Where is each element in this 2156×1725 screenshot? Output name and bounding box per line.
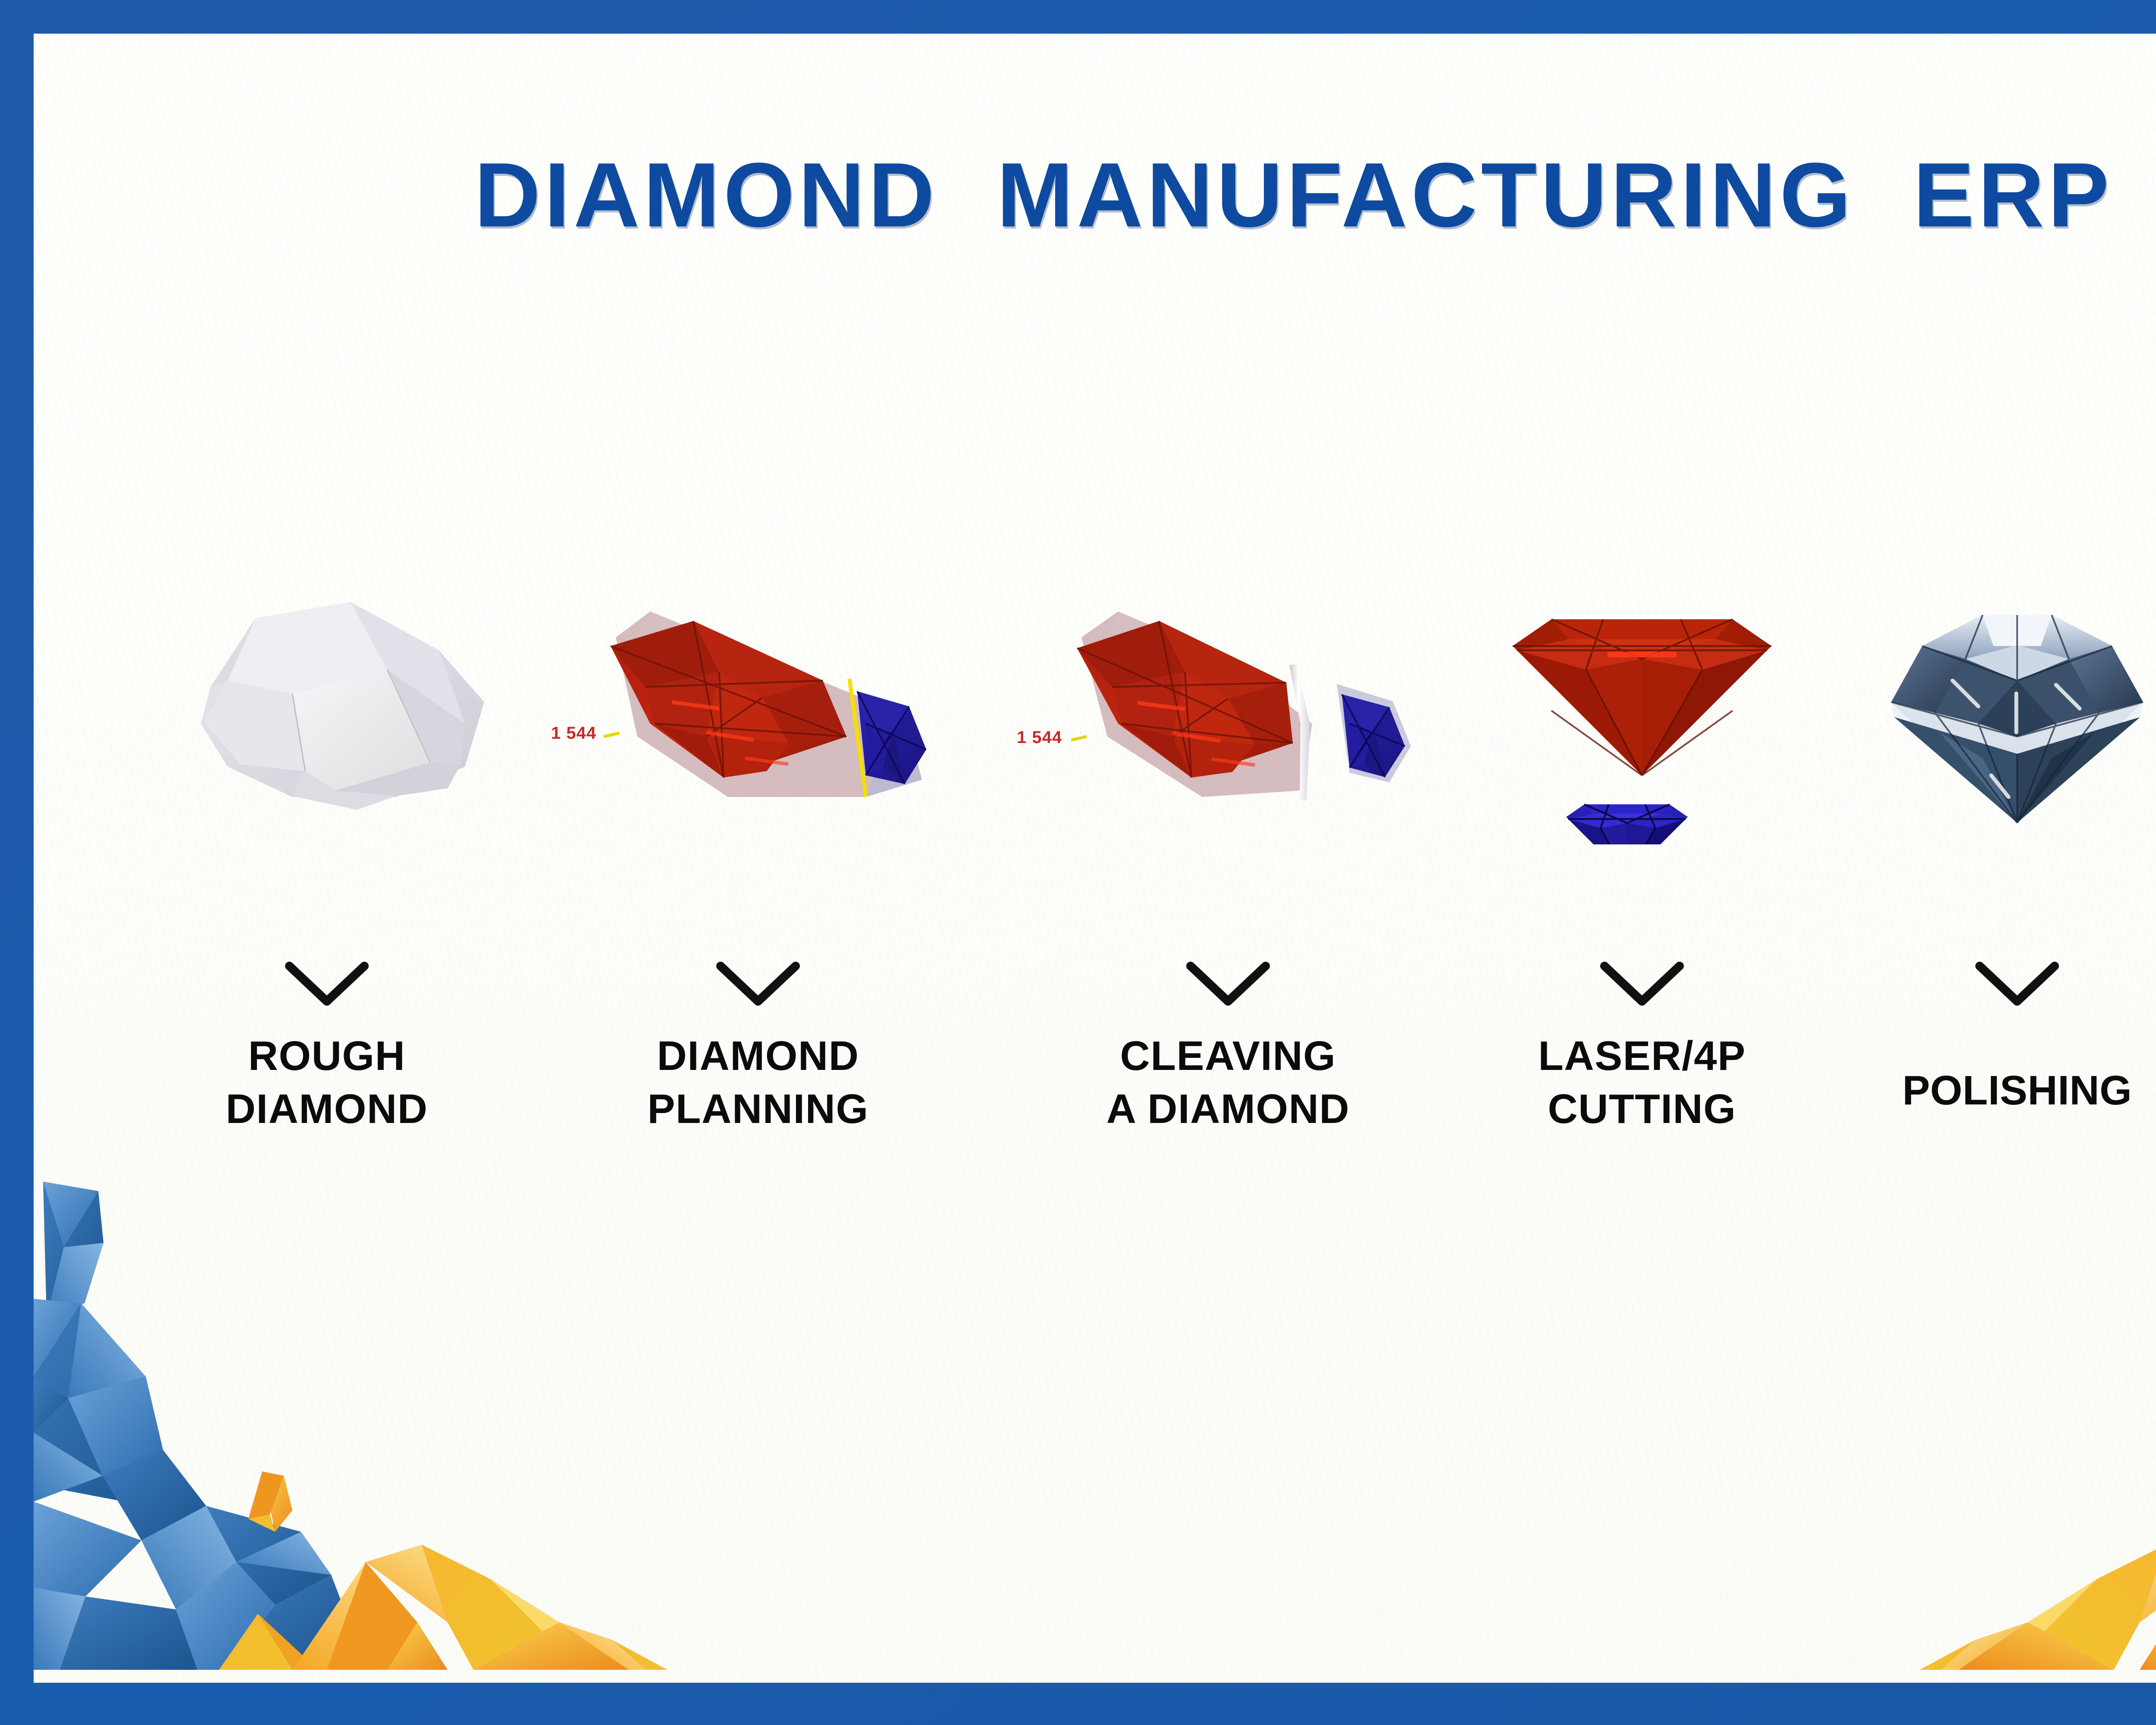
stage-label-rough-diamond: ROUGH DIAMOND: [111, 1030, 542, 1136]
corner-decoration-right: [1846, 1174, 2156, 1683]
stage-cleaving-a-diamond[interactable]: 1 544 CLEAVING A DIAMOND: [1012, 594, 1444, 870]
stage-rough-diamond[interactable]: ROUGH DIAMOND: [111, 594, 542, 870]
dark-brilliant-illustration: [1802, 594, 2156, 870]
planning-weight-annotation: 1 544: [551, 724, 596, 743]
chevron-down-icon: [282, 957, 372, 1012]
cleaved-stone-illustration: 1 544: [1012, 594, 1444, 870]
cleaved-stone-icon: [1034, 594, 1422, 836]
chevron-down-icon: [713, 957, 803, 1012]
chevron-down-icon: [1183, 957, 1273, 1012]
page-title: DIAMOND MANUFACTURING ERP: [34, 149, 2156, 241]
planning-overlay-illustration: 1 544: [542, 594, 974, 870]
stage-label-cleaving-a-diamond: CLEAVING A DIAMOND: [1012, 1030, 1444, 1136]
stage-label-polishing: POLISHING: [1802, 1064, 2156, 1117]
rough-stone-icon: [163, 594, 491, 836]
dark-brilliant-diamond-icon: [1883, 594, 2151, 836]
poster-canvas: DIAMOND MANUFACTURING ERP: [0, 0, 2156, 1725]
red-blue-brilliants-icon: [1500, 594, 1784, 844]
chevron-down-icon: [1972, 957, 2062, 1012]
poster-content-area: DIAMOND MANUFACTURING ERP: [34, 34, 2156, 1683]
planning-overlay-icon: [564, 594, 952, 836]
stage-label-diamond-planning: DIAMOND PLANNING: [542, 1030, 974, 1136]
corner-decoration-left: [34, 1174, 741, 1683]
stage-polishing[interactable]: POLISHING: [1802, 594, 2156, 870]
cleaving-weight-annotation: 1 544: [1017, 728, 1062, 747]
rough-stone-illustration: [111, 594, 542, 870]
red-blue-brilliants-illustration: [1426, 594, 1858, 870]
stage-label-laser-4p-cutting: LASER/4P CUTTING: [1426, 1030, 1858, 1136]
stage-diamond-planning[interactable]: 1 544 DIAMOND PLANNING: [542, 594, 974, 870]
chevron-down-icon: [1597, 957, 1687, 1012]
stage-laser-4p-cutting[interactable]: LASER/4P CUTTING: [1426, 594, 1858, 870]
